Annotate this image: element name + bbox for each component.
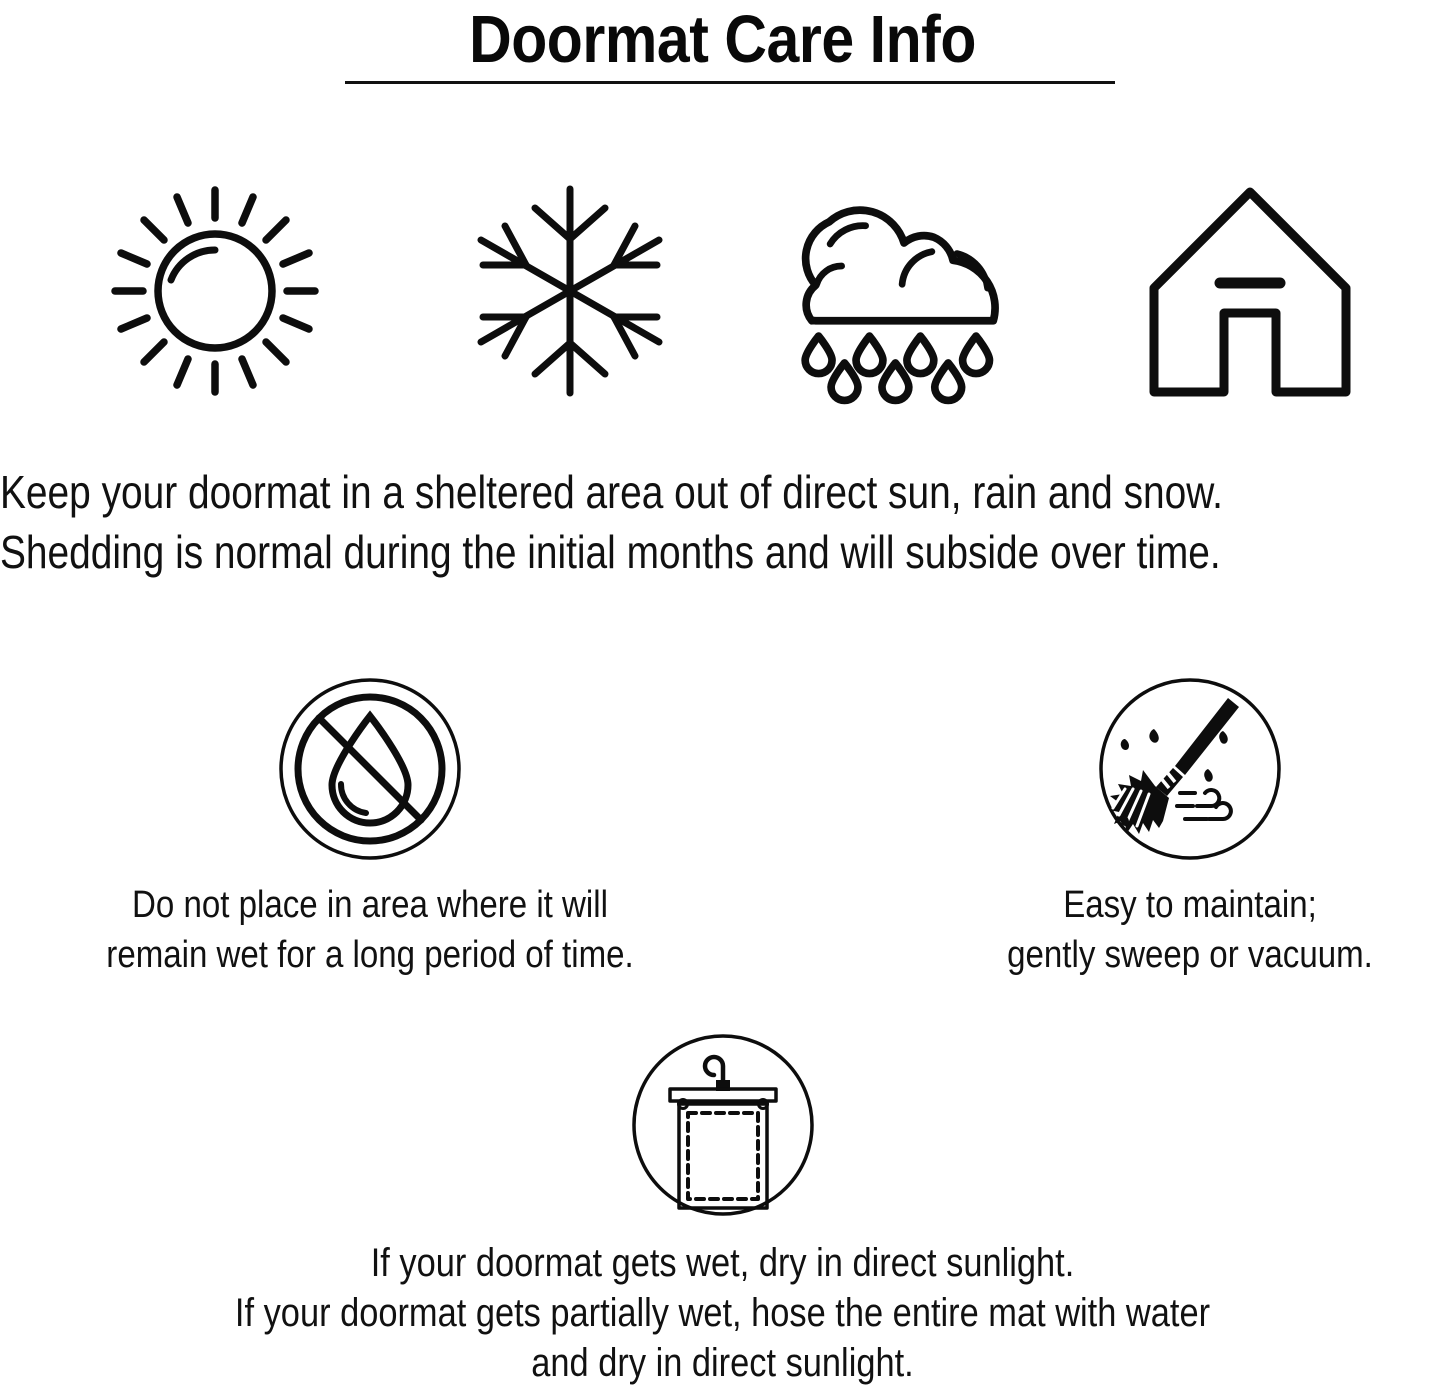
hanging-mat-icon [630,1032,816,1218]
snowflake-icon [450,176,690,406]
intro-line-2: Shedding is normal during the initial mo… [0,522,1221,582]
intro-line-1: Keep your doormat in a sheltered area ou… [0,462,1221,522]
sweep-caption: Easy to maintain; gently sweep or vacuum… [877,880,1445,980]
sweep-caption-line-2: gently sweep or vacuum. [877,930,1445,980]
drying-caption: If your doormat gets wet, dry in direct … [101,1238,1344,1388]
page-title: Doormat Care Info [87,0,1359,78]
no-water-icon [277,676,463,862]
no-water-caption: Do not place in area where it will remai… [57,880,683,980]
no-water-caption-line-1: Do not place in area where it will [57,880,683,930]
care-panel-row: Do not place in area where it will remai… [0,676,1445,976]
sun-icon [95,176,335,406]
drying-caption-line-2: If your doormat gets partially wet, hose… [101,1288,1344,1338]
drying-caption-line-3: and dry in direct sunlight. [101,1338,1344,1388]
house-icon [1130,176,1370,406]
broom-sweep-icon [1097,676,1283,862]
care-panel-sweep: Easy to maintain; gently sweep or vacuum… [830,676,1445,980]
care-panel-drying: If your doormat gets wet, dry in direct … [0,1032,1445,1388]
sweep-caption-line-1: Easy to maintain; [877,880,1445,930]
no-water-caption-line-2: remain wet for a long period of time. [57,930,683,980]
care-panel-no-water: Do not place in area where it will remai… [10,676,730,980]
header: Doormat Care Info [0,0,1445,78]
weather-icon-row [0,176,1445,406]
rain-cloud-icon [785,176,1025,406]
drying-caption-line-1: If your doormat gets wet, dry in direct … [101,1238,1344,1288]
title-underline-rule [345,81,1115,84]
intro-paragraph: Keep your doormat in a sheltered area ou… [0,462,1221,582]
